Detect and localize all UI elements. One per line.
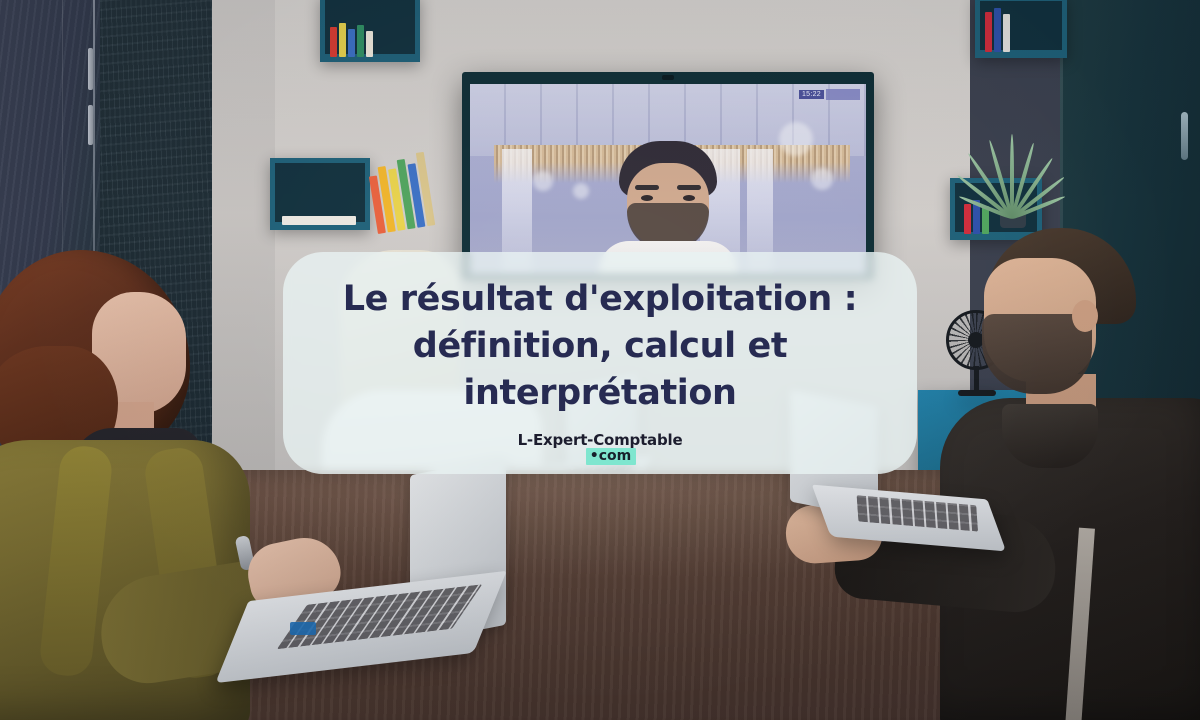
door-hinge-upper	[88, 48, 93, 90]
brand-name: L-Expert-Comptable	[518, 431, 683, 449]
wall-shelf-top-left	[320, 0, 420, 62]
man-collar	[1002, 404, 1098, 468]
bokeh-light	[811, 168, 833, 190]
laptop-keyboard	[857, 495, 978, 531]
book	[994, 8, 1001, 52]
camera-icon	[662, 75, 674, 80]
book-stack	[985, 8, 1010, 52]
laptop-keyboard	[277, 585, 483, 650]
clock-time: 15:22	[799, 90, 824, 99]
participant-eyebrow	[635, 185, 659, 190]
participant-eyebrow	[677, 185, 701, 190]
participant-eye	[683, 195, 695, 201]
door-handle-icon	[1181, 112, 1188, 160]
door-hinge-lower	[88, 105, 93, 145]
book	[282, 216, 356, 225]
book	[366, 31, 373, 57]
book	[339, 23, 346, 57]
book	[1003, 14, 1010, 52]
wall-shelf-mid-left	[270, 158, 370, 230]
monitor-screen: 15:22	[470, 84, 866, 274]
laptop-brand-badge	[290, 622, 316, 635]
book-stack	[282, 216, 356, 225]
title-line-2: définition, calcul et	[343, 323, 857, 370]
screen-status-pill	[826, 89, 860, 100]
book	[330, 27, 337, 57]
screenshot-root: 15:22	[0, 0, 1200, 720]
shelf-cavity	[275, 163, 365, 222]
book	[985, 12, 992, 52]
bokeh-light	[779, 122, 813, 156]
laptop-foreground	[238, 470, 488, 670]
tilted-book-stack	[365, 139, 457, 234]
book	[357, 25, 364, 57]
man-ear	[1072, 300, 1098, 332]
title-line-1: Le résultat d'exploitation :	[343, 276, 857, 323]
book-stack	[330, 23, 373, 57]
title-line-3: interprétation	[343, 370, 857, 417]
participant-eye	[641, 195, 653, 201]
screen-clock: 15:22	[799, 88, 860, 100]
laptop-base	[215, 571, 506, 683]
wall-shelf-top-right	[975, 0, 1067, 58]
spider-plant	[960, 112, 1070, 222]
brand-tld: •com	[586, 448, 636, 465]
bokeh-light	[573, 183, 589, 199]
title-card: Le résultat d'exploitation : définition,…	[283, 252, 917, 474]
book	[348, 29, 355, 57]
video-call-monitor: 15:22	[462, 72, 874, 280]
bokeh-light	[533, 171, 553, 191]
page-title: Le résultat d'exploitation : définition,…	[343, 276, 857, 417]
brand-logo: L-Expert-Comptable •com	[518, 431, 683, 465]
